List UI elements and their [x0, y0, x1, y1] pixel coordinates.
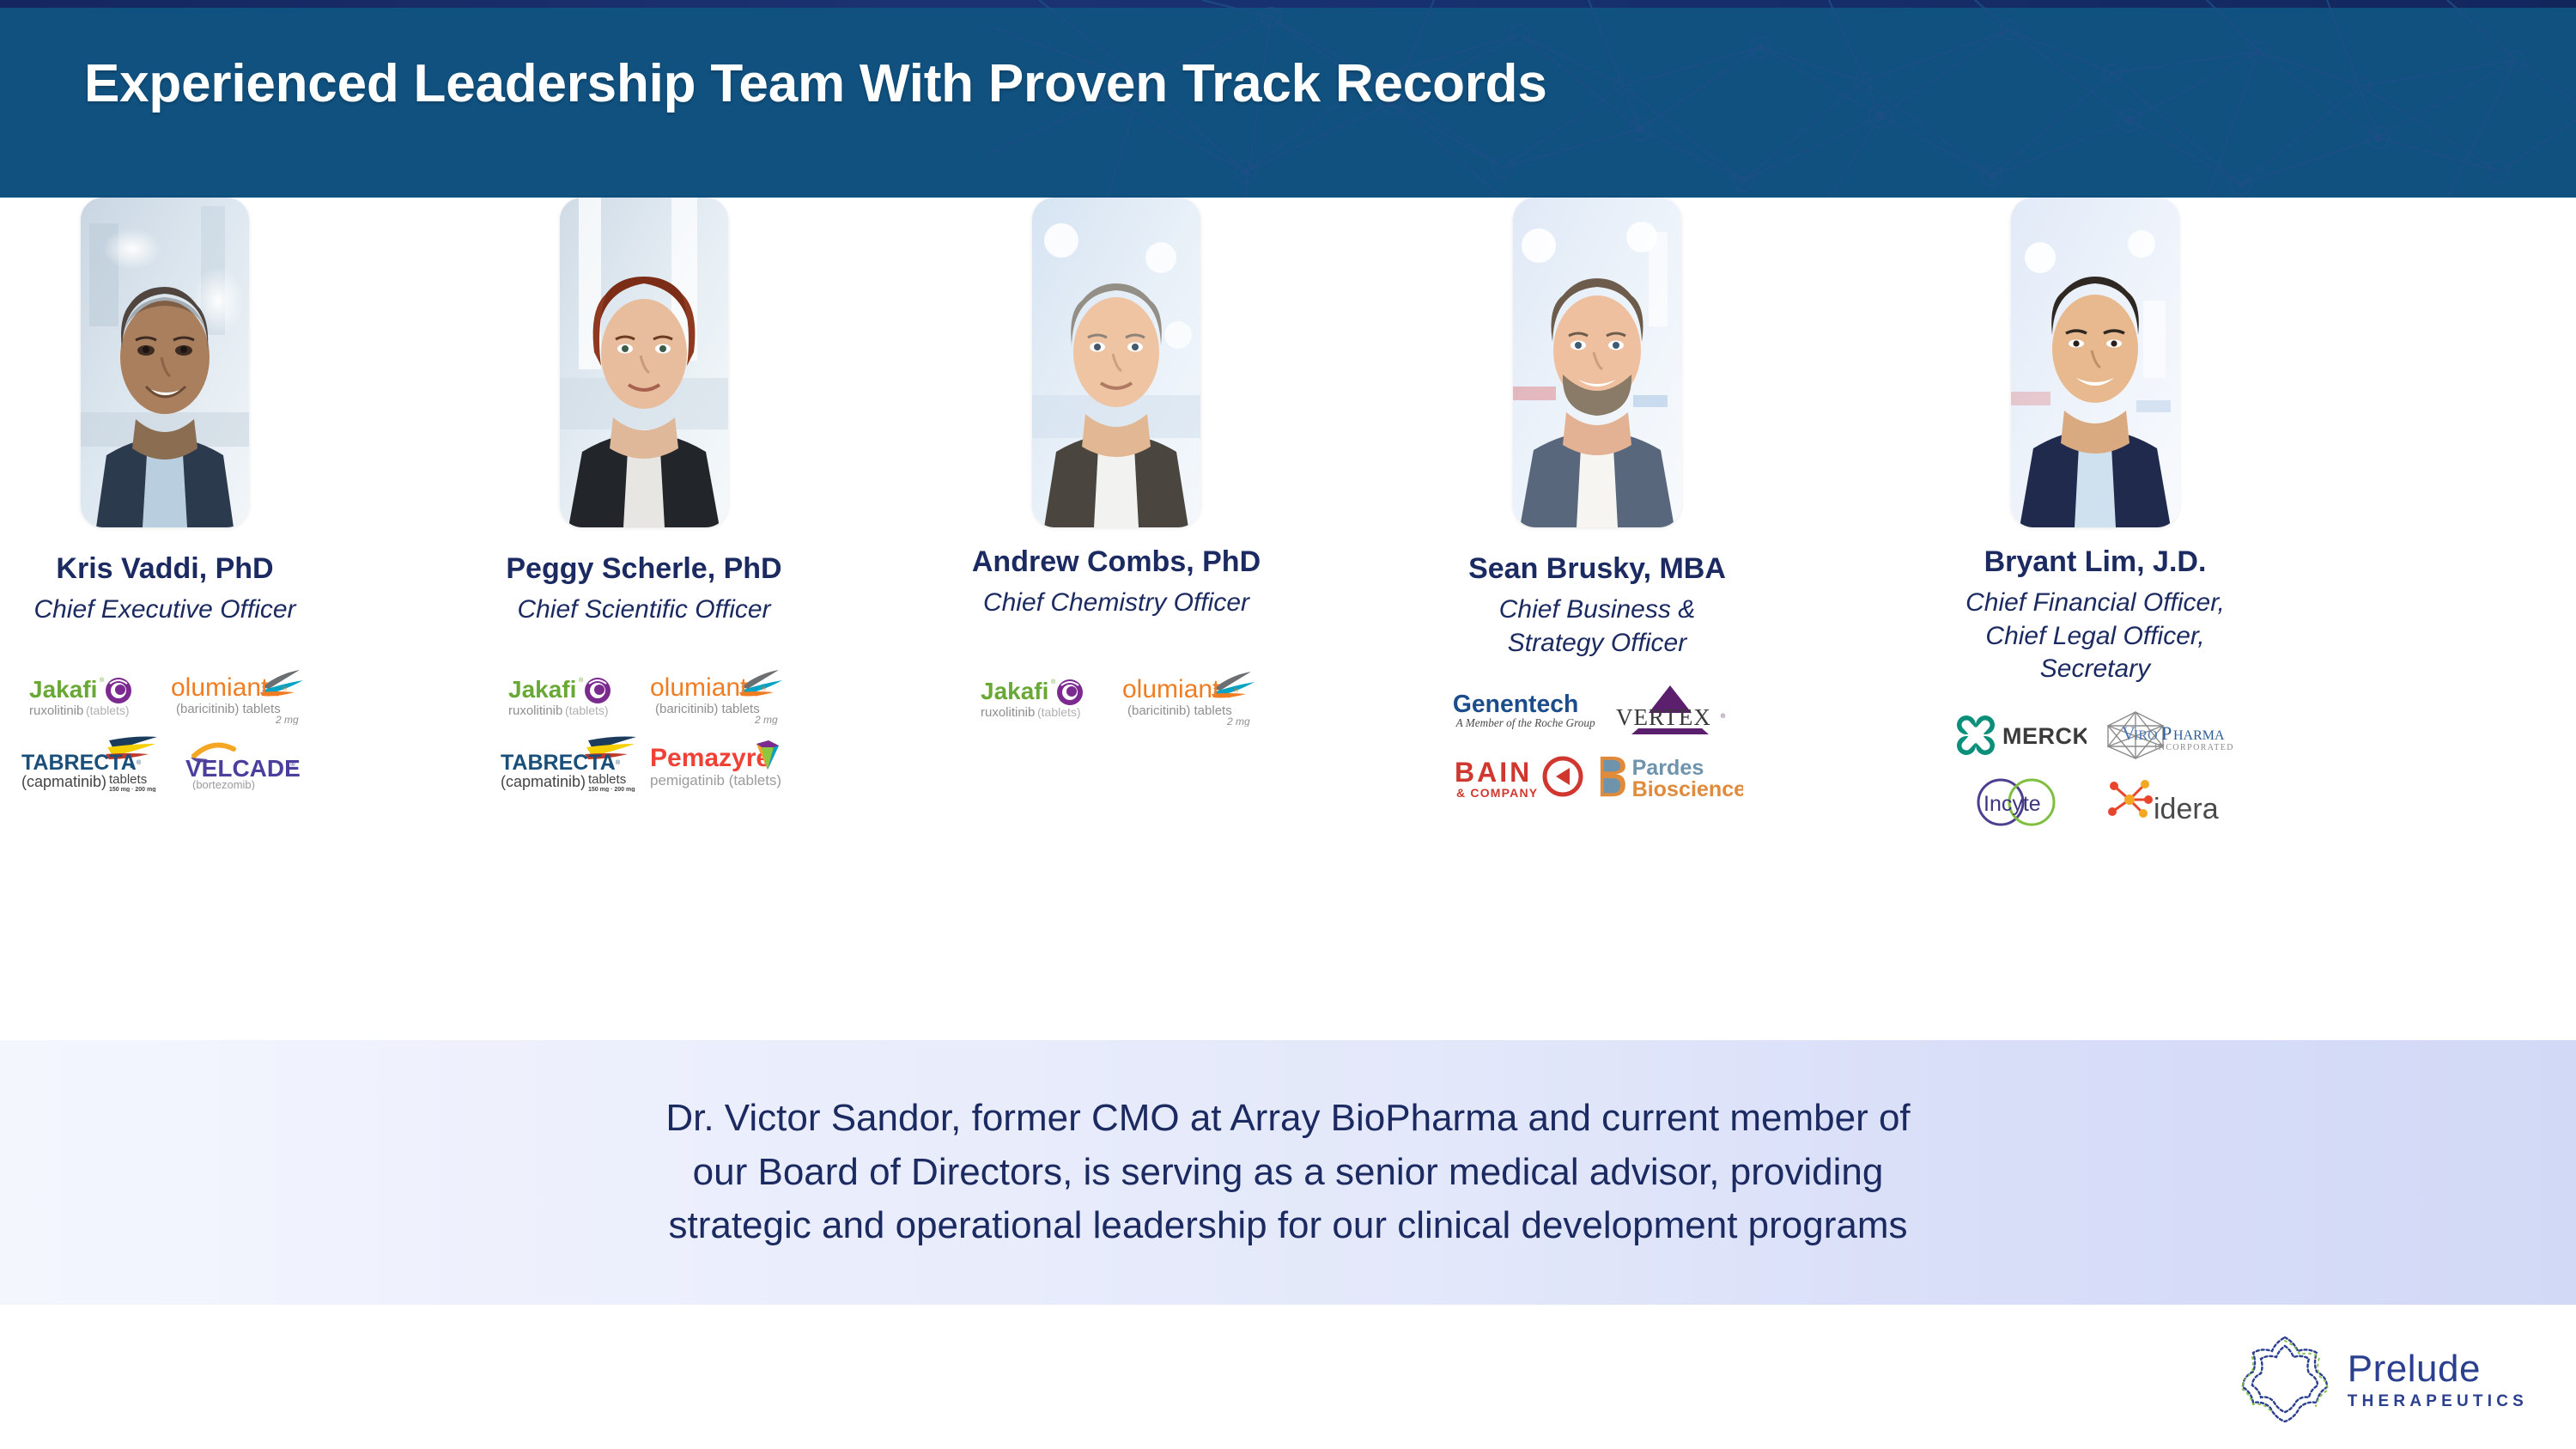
logo-cell-incyte: Incyte: [1941, 769, 2095, 836]
olumiant-logo: olumiant ® (baricitinib) tablets 2 mg: [1121, 670, 1258, 727]
member-title: Chief Business & Strategy Officer: [1451, 594, 1743, 660]
svg-text:Pemazyre: Pemazyre: [650, 744, 770, 772]
svg-text:(baricitinib) tablets: (baricitinib) tablets: [176, 702, 281, 716]
svg-text:tablets: tablets: [109, 772, 147, 787]
svg-text:Jakafi: Jakafi: [29, 676, 97, 703]
svg-text:Incyte: Incyte: [1984, 792, 2041, 816]
svg-text:(capmatinib): (capmatinib): [21, 773, 106, 790]
svg-text:INCORPORATED: INCORPORATED: [2154, 743, 2234, 752]
jakafi-logo: Jakafi ® ruxolitinib (tablets): [507, 670, 635, 723]
logo-cell-jakafi: Jakafi ® ruxolitinib (tablets): [498, 663, 644, 730]
tabrecta-logo: TABRECTA ® (capmatinib) tablets 150 mg ·…: [20, 735, 164, 792]
svg-text:A Member of the Roche Group: A Member of the Roche Group: [1455, 716, 1595, 729]
svg-text:®: ®: [1234, 687, 1239, 694]
tabrecta-logo: TABRECTA ® (capmatinib) tablets 150 mg ·…: [499, 735, 643, 792]
svg-text:TABRECTA: TABRECTA: [501, 751, 616, 775]
prelude-circular-dna-mark-icon: [2234, 1329, 2336, 1430]
member-name: Sean Brusky, MBA: [1451, 553, 1743, 585]
olumiant-logo: olumiant ® (baricitinib) tablets 2 mg: [169, 668, 307, 725]
svg-text:HARMA: HARMA: [2173, 728, 2225, 743]
logo-grid: Jakafi ® ruxolitinib (tablets) olumiant …: [970, 665, 1262, 732]
headshot-andrew-combs-graphic: [1032, 198, 1200, 527]
jakafi-logo: Jakafi ® ruxolitinib (tablets): [27, 670, 156, 723]
team-member-card: Peggy Scherle, PhD Chief Scientific Offi…: [498, 198, 790, 797]
incyte-logo: Incyte: [1958, 776, 2078, 829]
merck-logo: MERCK: [1949, 713, 2087, 758]
svg-text:TABRECTA: TABRECTA: [21, 751, 137, 775]
svg-text:Jakafi: Jakafi: [981, 678, 1048, 704]
logo-grid: Jakafi ® ruxolitinib (tablets) olumiant …: [19, 663, 311, 797]
svg-text:®: ®: [579, 677, 584, 684]
brand-tagline: THERAPEUTICS: [2348, 1393, 2528, 1409]
team-member-card: Andrew Combs, PhD Chief Chemistry Office…: [970, 198, 1262, 732]
svg-text:pemigatinib (tablets): pemigatinib (tablets): [650, 772, 781, 788]
member-title: Chief Financial Officer, Chief Legal Off…: [1941, 587, 2250, 685]
svg-text:®: ®: [1051, 679, 1056, 685]
svg-text:(bortezomib): (bortezomib): [192, 778, 255, 790]
member-title: Chief Chemistry Officer: [970, 587, 1262, 619]
member-title: Chief Scientific Officer: [498, 594, 790, 626]
headshot-kris-vaddi-graphic: [81, 198, 249, 527]
headshot-photo: [1032, 198, 1200, 527]
team-member-card: Sean Brusky, MBA Chief Business & Strate…: [1451, 198, 1743, 811]
svg-text:®: ®: [290, 760, 295, 768]
slide-header: Experienced Leadership Team With Proven …: [0, 0, 2576, 198]
svg-text:idera: idera: [2154, 793, 2219, 825]
member-name: Bryant Lim, J.D.: [1941, 546, 2250, 578]
logo-cell-bain: BAIN & COMPANY: [1451, 744, 1597, 811]
svg-text:®: ®: [762, 685, 767, 692]
svg-text:2 mg: 2 mg: [1226, 715, 1250, 727]
pardes-logo: Pardes Biosciences: [1597, 752, 1743, 802]
svg-text:tablets: tablets: [588, 772, 626, 787]
svg-text:Genentech: Genentech: [1453, 691, 1578, 718]
svg-text:®: ®: [616, 759, 621, 766]
headshot-photo: [2011, 198, 2179, 527]
svg-text:P: P: [2161, 722, 2172, 744]
svg-text:Biosciences: Biosciences: [1632, 777, 1743, 801]
page-title: Experienced Leadership Team With Proven …: [84, 53, 1547, 114]
svg-text:(baricitinib) tablets: (baricitinib) tablets: [655, 702, 760, 716]
logo-cell-vertex: VERTEX ®: [1597, 677, 1743, 744]
logo-grid: MERCK V IRO P HARMA INCORPORATED: [1941, 702, 2250, 836]
svg-text:MERCK: MERCK: [2002, 723, 2087, 749]
svg-text:olumiant: olumiant: [1122, 675, 1220, 703]
logo-cell-olumiant: olumiant ® (baricitinib) tablets 2 mg: [644, 663, 790, 730]
svg-text:(tablets): (tablets): [86, 703, 130, 717]
headshot-photo: [81, 198, 249, 527]
svg-text:150 mg · 200 mg: 150 mg · 200 mg: [588, 787, 635, 792]
svg-text:®: ®: [100, 677, 105, 684]
member-name: Kris Vaddi, PhD: [19, 553, 311, 585]
svg-text:(baricitinib) tablets: (baricitinib) tablets: [1127, 703, 1232, 718]
logo-cell-pardes: Pardes Biosciences: [1597, 744, 1743, 811]
logo-cell-jakafi: Jakafi ® ruxolitinib (tablets): [19, 663, 165, 730]
svg-text:150 mg · 200 mg: 150 mg · 200 mg: [109, 787, 155, 792]
advisor-callout-band: Dr. Victor Sandor, former CMO at Array B…: [0, 1040, 2576, 1305]
logo-cell-viropharma: V IRO P HARMA INCORPORATED: [2095, 702, 2250, 769]
header-top-strip: [0, 0, 2576, 8]
svg-text:olumiant: olumiant: [650, 673, 748, 702]
team-member-card: Kris Vaddi, PhD Chief Executive Officer …: [19, 198, 311, 797]
velcade-logo: VELCADE ® (bortezomib): [173, 737, 302, 790]
svg-text:2 mg: 2 mg: [754, 714, 778, 725]
svg-text:& COMPANY: & COMPANY: [1456, 786, 1538, 800]
logo-cell-tabrecta: TABRECTA ® (capmatinib) tablets 150 mg ·…: [19, 730, 165, 797]
bain-logo: BAIN & COMPANY: [1453, 752, 1595, 802]
team-member-card: Bryant Lim, J.D. Chief Financial Officer…: [1941, 198, 2250, 836]
headshot-photo: [1513, 198, 1681, 527]
logo-grid: Genentech A Member of the Roche Group VE…: [1451, 677, 1743, 811]
leadership-team-row: Kris Vaddi, PhD Chief Executive Officer …: [0, 198, 2576, 1039]
logo-cell-olumiant: olumiant ® (baricitinib) tablets 2 mg: [165, 663, 311, 730]
svg-text:(tablets): (tablets): [565, 703, 609, 717]
headshot-bryant-lim-graphic: [2011, 198, 2179, 527]
viropharma-logo: V IRO P HARMA INCORPORATED: [2101, 709, 2244, 762]
logo-cell-tabrecta: TABRECTA ® (capmatinib) tablets 150 mg ·…: [498, 730, 644, 797]
svg-text:®: ®: [1721, 713, 1726, 720]
logo-cell-pemazyre: Pemazyre pemigatinib (tablets): [644, 730, 790, 797]
svg-text:ruxolitinib: ruxolitinib: [29, 703, 83, 718]
headshot-peggy-scherle-graphic: [560, 198, 728, 527]
advisor-callout-text: Dr. Victor Sandor, former CMO at Array B…: [665, 1092, 1910, 1252]
svg-text:ruxolitinib: ruxolitinib: [508, 703, 562, 718]
logo-cell-idera: idera: [2095, 769, 2250, 836]
brand-text: Prelude THERAPEUTICS: [2348, 1350, 2528, 1409]
vertex-logo: VERTEX ®: [1606, 684, 1735, 737]
headshot-photo: [560, 198, 728, 527]
olumiant-logo: olumiant ® (baricitinib) tablets 2 mg: [648, 668, 786, 725]
member-name: Peggy Scherle, PhD: [498, 553, 790, 585]
logo-cell-jakafi: Jakafi ® ruxolitinib (tablets): [970, 665, 1116, 732]
svg-text:BAIN: BAIN: [1455, 757, 1532, 788]
svg-text:IRO: IRO: [2134, 728, 2158, 743]
logo-cell-merck: MERCK: [1941, 702, 2095, 769]
svg-text:ruxolitinib: ruxolitinib: [981, 705, 1035, 720]
svg-text:®: ®: [137, 759, 142, 766]
svg-text:olumiant: olumiant: [171, 673, 269, 702]
svg-text:Pardes: Pardes: [1632, 756, 1704, 780]
svg-text:Jakafi: Jakafi: [508, 676, 576, 703]
member-name: Andrew Combs, PhD: [970, 546, 1262, 578]
company-logo: Prelude THERAPEUTICS: [2234, 1329, 2528, 1430]
logo-cell-olumiant: olumiant ® (baricitinib) tablets 2 mg: [1116, 665, 1262, 732]
jakafi-logo: Jakafi ® ruxolitinib (tablets): [979, 672, 1108, 725]
logo-cell-genentech: Genentech A Member of the Roche Group: [1451, 677, 1597, 744]
svg-text:(tablets): (tablets): [1037, 705, 1081, 719]
svg-text:2 mg: 2 mg: [275, 714, 299, 725]
brand-name: Prelude: [2348, 1350, 2528, 1388]
idera-logo: idera: [2104, 777, 2241, 827]
member-title: Chief Executive Officer: [19, 594, 311, 626]
logo-cell-velcade: VELCADE ® (bortezomib): [165, 730, 311, 797]
pemazyre-logo: Pemazyre pemigatinib (tablets): [648, 737, 786, 790]
svg-text:®: ®: [283, 685, 288, 692]
svg-text:VERTEX: VERTEX: [1616, 704, 1711, 730]
headshot-sean-brusky-graphic: [1513, 198, 1681, 527]
logo-grid: Jakafi ® ruxolitinib (tablets) olumiant …: [498, 663, 790, 797]
svg-text:(capmatinib): (capmatinib): [501, 773, 586, 790]
genentech-logo: Genentech A Member of the Roche Group: [1451, 686, 1597, 734]
